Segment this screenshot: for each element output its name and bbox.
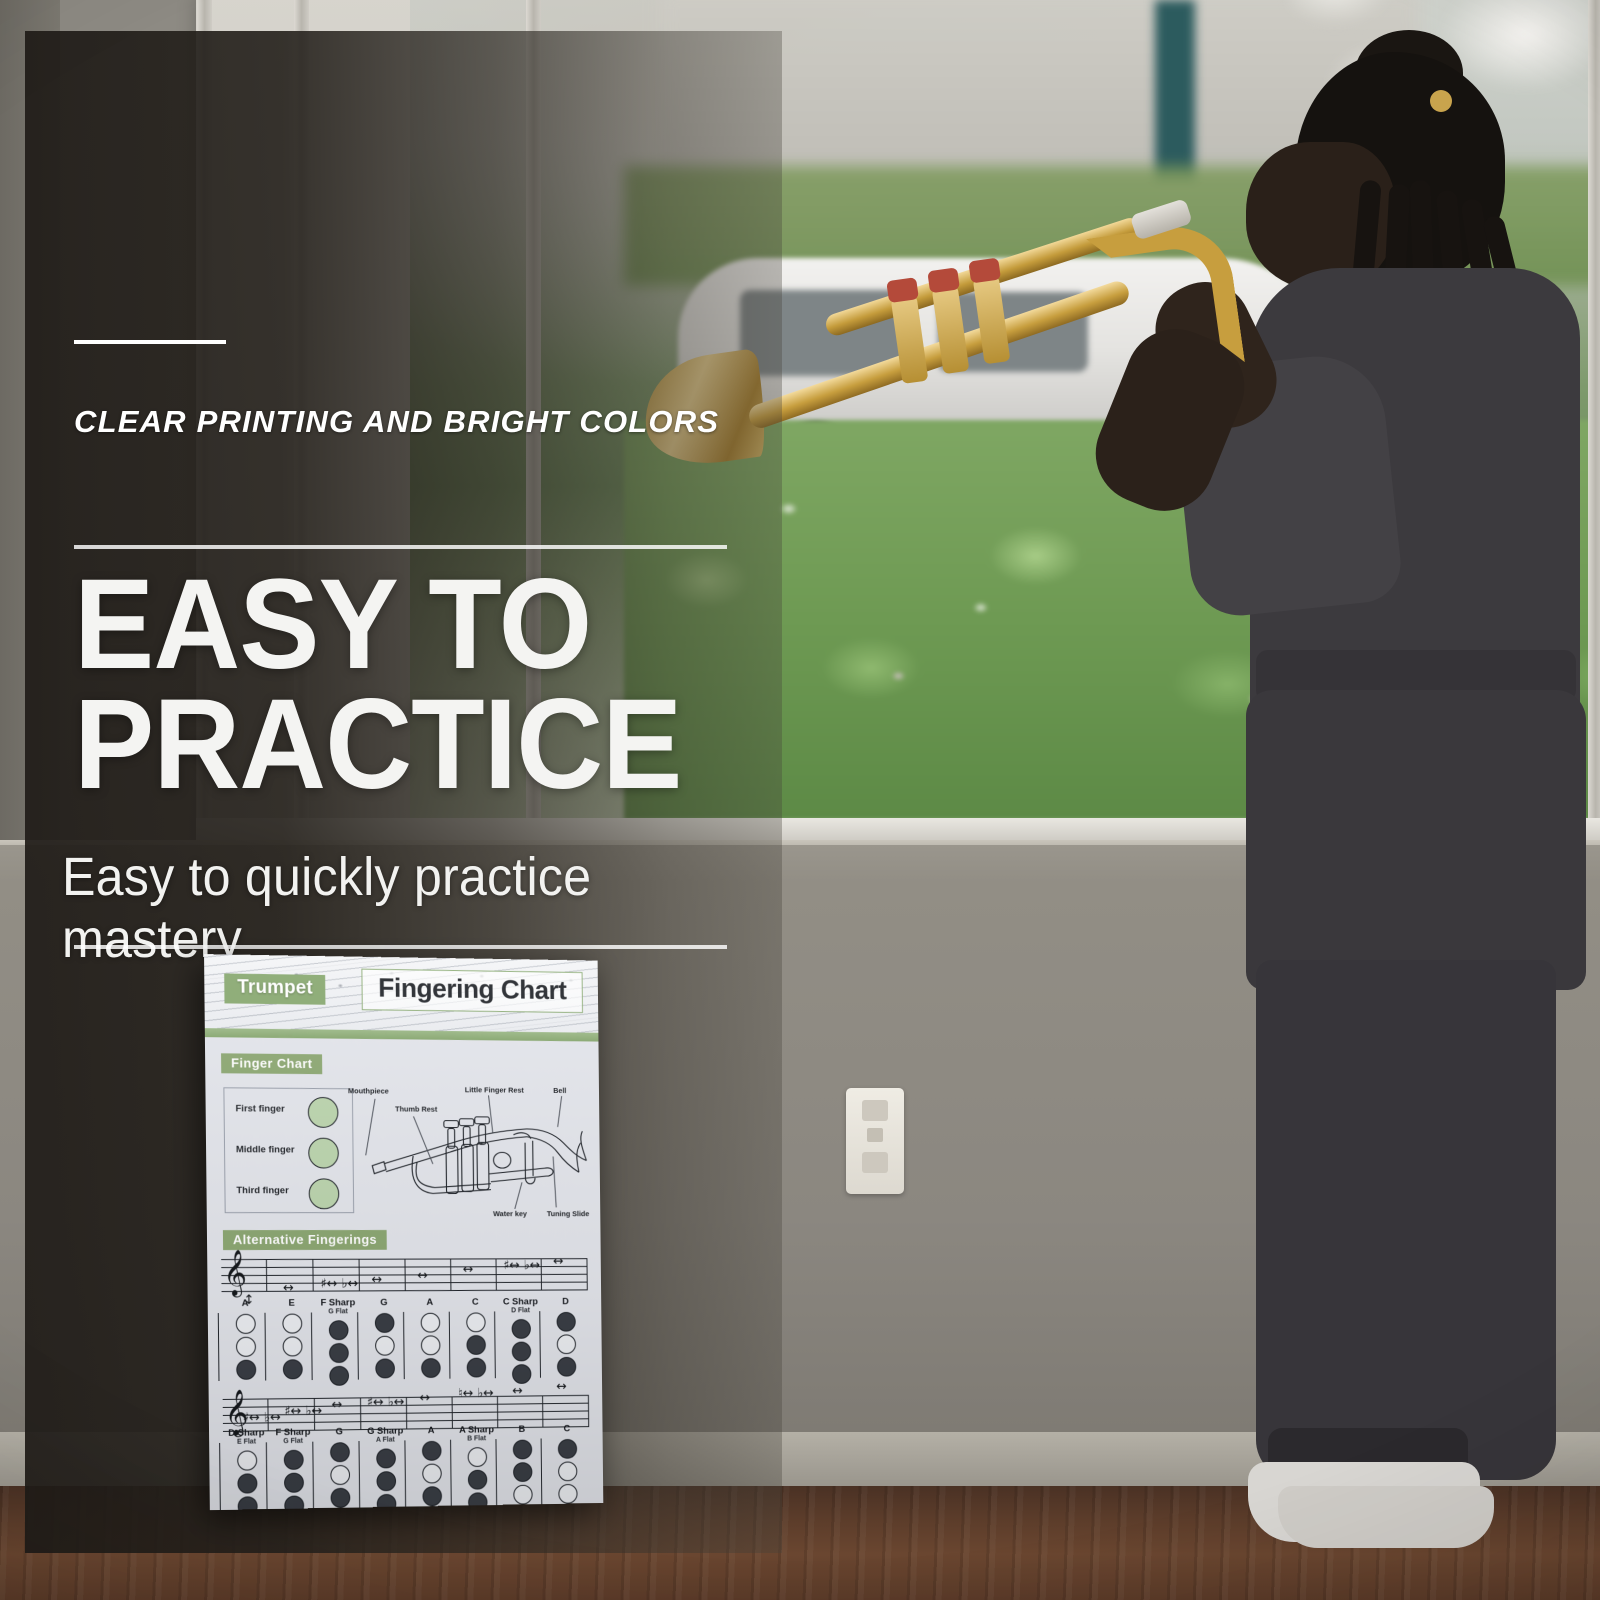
trumpet-valve-cap-2 [927, 267, 960, 293]
divider-rule-upper [74, 545, 727, 549]
valve-dots [284, 1450, 303, 1510]
valve-dot-1 [466, 1312, 486, 1332]
fingering-cell: G [361, 1298, 408, 1381]
valve-dot-2 [421, 1335, 441, 1355]
fingering-cell: A [407, 1298, 454, 1381]
valve-dot-3 [513, 1485, 532, 1505]
valve-dot-2 [284, 1473, 304, 1493]
fingering-cell: F Sharp G Flat [315, 1298, 362, 1389]
diagram-label-tuning-slide: Tuning Slide [547, 1209, 590, 1218]
note-name: B [499, 1425, 544, 1435]
legend-row: Third finger [225, 1172, 353, 1213]
section-label-finger-chart: Finger Chart [221, 1053, 322, 1074]
product-lifestyle-banner: CLEAR PRINTING AND BRIGHT COLORS EASY TO… [0, 0, 1600, 1600]
legend-row: Middle finger [225, 1131, 353, 1172]
section-alternative-fingerings: Alternative Fingerings [223, 1230, 387, 1250]
valve-dot-2 [283, 1336, 303, 1356]
bar-line [450, 1259, 451, 1291]
valve-dot-1 [468, 1447, 488, 1467]
note-name: C [452, 1298, 497, 1308]
bar-line [588, 1395, 589, 1426]
staff-lines-2: 𝄞 ♯↔ ♭↔ ♯↔ ♭↔ ↔ ♯↔ ♭↔ ↔ ♮↔ ♭↔ ↔ ↔ [223, 1381, 590, 1427]
valve-dot-1 [375, 1313, 395, 1333]
headline-line-2: PRACTICE [74, 685, 713, 805]
note-group: ↔ [553, 1254, 564, 1269]
diagram-label-water-key: Water key [493, 1209, 527, 1218]
bar-line [541, 1258, 542, 1289]
legend-label: Middle finger [236, 1144, 295, 1155]
diagram-label-bell: Bell [553, 1086, 566, 1095]
valve-dot-1 [237, 1450, 257, 1470]
note-group: ↔ [463, 1262, 474, 1277]
poster-body: Finger Chart First finger Middle finger … [205, 1037, 603, 1510]
valve-dots [376, 1448, 395, 1510]
note-group: ↔ [556, 1379, 567, 1394]
valve-dot-3 [467, 1358, 487, 1378]
note-group: ♯↔ ♭↔ [284, 1404, 322, 1419]
valve-dot-3 [236, 1360, 256, 1380]
legend-circle-icon [308, 1138, 339, 1169]
note-group: ♯↔ ♭↔ [320, 1277, 358, 1292]
diagram-label-little-finger-rest: Little Finger Rest [465, 1085, 524, 1094]
child-musician [1010, 30, 1570, 1600]
note-name: D [543, 1297, 588, 1307]
valve-dots [512, 1319, 531, 1384]
valve-dots [329, 1320, 348, 1386]
valve-dot-1 [282, 1314, 302, 1334]
valve-dot-2 [237, 1473, 257, 1493]
valve-dots [558, 1439, 577, 1504]
fingering-cell: A Sharp B Flat [454, 1425, 500, 1510]
fingering-cell: B [499, 1425, 545, 1508]
bar-line [497, 1396, 498, 1427]
page-title: EASY TO PRACTICE [74, 565, 713, 806]
valve-dot-2 [375, 1336, 395, 1356]
valve-dot-1 [512, 1319, 531, 1339]
note-group: ↔ [371, 1273, 382, 1288]
valve-dot-1 [376, 1448, 396, 1468]
trumpet-curve [1086, 220, 1245, 382]
music-staff-2: 𝄞 ♯↔ ♭↔ ♯↔ ♭↔ ↔ ♯↔ ♭↔ ↔ ♮↔ ♭↔ ↔ ↔ [223, 1381, 590, 1427]
valve-dot-1 [236, 1314, 256, 1334]
trumpet-diagram: Mouthpiece Thumb Rest Little Finger Rest… [354, 1082, 593, 1219]
valve-dots [375, 1313, 394, 1378]
note-alt-name: B Flat [454, 1435, 499, 1443]
fingering-cell: C [544, 1424, 590, 1507]
legend-circle-icon [309, 1178, 340, 1209]
valve-dot-2 [236, 1337, 256, 1357]
section-finger-chart: Finger Chart [221, 1053, 322, 1074]
staff-lines-1: 𝄞 ↕ ↔ ♯↔ ♭↔ ↔ ↔ ↔ ♯↔ ♭↔ ↔ [221, 1254, 588, 1297]
note-name: G Sharp [362, 1427, 408, 1437]
bar-line [266, 1259, 267, 1291]
instrument-badge: Trumpet [224, 973, 326, 1004]
fingering-cell: A [222, 1299, 270, 1383]
bar-line [496, 1258, 497, 1289]
music-staff-1: 𝄞 ↕ ↔ ♯↔ ♭↔ ↔ ↔ ↔ ♯↔ ♭↔ ↔ [221, 1254, 588, 1297]
sock-front [1278, 1486, 1494, 1548]
valve-dot-3 [283, 1359, 303, 1379]
valve-dot-3 [468, 1492, 488, 1510]
valve-dot-3 [422, 1486, 442, 1506]
valve-dot-3 [375, 1358, 395, 1378]
valve-dots [421, 1313, 440, 1378]
valve-dot-2 [513, 1462, 532, 1482]
fingering-chart-poster: Trumpet Fingering Chart Finger Chart Fir… [197, 950, 623, 1524]
poster-surface: Trumpet Fingering Chart Finger Chart Fir… [204, 954, 603, 1510]
valve-dot-3 [331, 1488, 351, 1508]
note-name: C [544, 1424, 589, 1434]
hair-tie [1430, 90, 1452, 112]
bar-line [359, 1259, 360, 1291]
valve-dots [237, 1450, 257, 1510]
bar-line [452, 1396, 453, 1428]
poster-title-box: Fingering Chart [361, 969, 583, 1013]
treble-clef-icon: 𝄞 [223, 1253, 247, 1293]
valve-dot-1 [422, 1441, 442, 1461]
accent-rule-top [74, 340, 226, 344]
valve-dot-1 [421, 1313, 441, 1333]
valve-dots [513, 1440, 532, 1505]
valve-dot-1 [558, 1439, 577, 1459]
valve-dot-2 [558, 1461, 577, 1481]
section-label-alternative: Alternative Fingerings [223, 1230, 387, 1250]
fingering-cell: C Sharp D Flat [498, 1297, 544, 1387]
fingering-cell: G [316, 1427, 363, 1510]
legs [1256, 960, 1556, 1480]
bar-line [586, 1258, 587, 1289]
note-name: E [268, 1299, 315, 1309]
legend-circle-icon [308, 1097, 339, 1128]
valve-dot-2 [466, 1335, 486, 1355]
valve-dot-1 [329, 1320, 349, 1340]
valve-dot-3 [421, 1358, 441, 1378]
bar-line [312, 1259, 313, 1291]
valve-dot-2 [468, 1470, 488, 1490]
valve-dot-1 [557, 1312, 576, 1332]
valve-dots [330, 1442, 349, 1508]
legend-label: First finger [235, 1103, 284, 1114]
note-name: C Sharp [498, 1297, 543, 1307]
fingering-cell: F Sharp G Flat [270, 1428, 317, 1510]
valve-dot-2 [329, 1343, 349, 1363]
poster-title: Fingering Chart [378, 973, 567, 1006]
valve-dots [557, 1312, 576, 1377]
divider-rule-lower [74, 945, 727, 949]
valve-dots [422, 1441, 441, 1506]
note-group: ↔ [419, 1391, 430, 1406]
valve-dot-2 [376, 1471, 396, 1491]
note-group: ♯↔ ♭↔ [243, 1410, 281, 1425]
outlet-reset-button [867, 1128, 883, 1142]
note-alt-name: G Flat [270, 1438, 317, 1446]
cell-separator [218, 1313, 220, 1381]
valve-dot-2 [512, 1342, 531, 1362]
valve-dot-2 [422, 1463, 442, 1483]
valve-dot-2 [557, 1334, 576, 1354]
fingering-cell: E [268, 1299, 315, 1383]
bar-line [542, 1395, 543, 1426]
fingering-cell: D [543, 1297, 589, 1379]
diagram-label-thumb-rest: Thumb Rest [395, 1104, 437, 1113]
outlet-slot-top [862, 1100, 888, 1121]
outlet-slot-bottom [862, 1152, 888, 1173]
valve-dots [282, 1314, 301, 1380]
note-name: A Sharp [454, 1425, 499, 1435]
hips [1246, 690, 1586, 990]
fingering-row-1: A E [222, 1297, 589, 1387]
trumpet-valve-cap-3 [968, 258, 1001, 284]
bar-line [406, 1397, 407, 1429]
note-name: A [407, 1298, 453, 1308]
bar-line [404, 1259, 405, 1291]
valve-dot-3 [238, 1496, 258, 1510]
note-group: ♯↔ ♭↔ [367, 1395, 405, 1410]
note-alt-name: G Flat [315, 1308, 361, 1315]
note-group: ↔ [332, 1398, 343, 1413]
note-name: G [361, 1298, 407, 1308]
valve-dot-3 [284, 1495, 304, 1510]
note-name: A [222, 1299, 269, 1309]
trumpet-valve-cap-1 [886, 277, 919, 303]
note-group: ♯↔ ♭↔ [503, 1258, 540, 1273]
note-alt-name: E Flat [223, 1438, 270, 1446]
diagram-label-mouthpiece: Mouthpiece [348, 1086, 389, 1095]
valve-dots [236, 1314, 256, 1380]
valve-dots [466, 1312, 485, 1377]
note-name: D Sharp [223, 1428, 270, 1439]
fingering-cell: A [408, 1426, 455, 1510]
bar-line [360, 1397, 361, 1429]
finger-legend-box: First finger Middle finger Third finger [223, 1087, 354, 1213]
legend-label: Third finger [236, 1185, 288, 1196]
fingering-cell: D Sharp E Flat [223, 1428, 271, 1510]
note-group: ♮↔ ♭↔ [458, 1386, 494, 1401]
valve-dot-1 [284, 1450, 304, 1470]
valve-dot-3 [558, 1484, 577, 1504]
note-name: A [408, 1426, 454, 1436]
cell-separator [219, 1443, 221, 1510]
trumpet-line-art-icon [354, 1082, 593, 1219]
note-alt-name: D Flat [498, 1307, 543, 1314]
valve-dot-3 [557, 1357, 576, 1377]
note-name: F Sharp [315, 1298, 361, 1308]
eyebrow-text: CLEAR PRINTING AND BRIGHT COLORS [74, 404, 754, 440]
fingering-cell: C [452, 1298, 498, 1381]
valve-dot-1 [513, 1440, 532, 1460]
valve-dot-3 [377, 1494, 397, 1510]
valve-dots [468, 1447, 487, 1510]
valve-dot-1 [330, 1442, 350, 1462]
wall-outlet-icon [846, 1088, 904, 1194]
valve-dot-2 [330, 1465, 350, 1485]
window-mullion-right [1588, 0, 1600, 852]
note-group: ↔ [283, 1281, 294, 1296]
note-group: ↔ [417, 1268, 428, 1283]
fingering-row-2: D Sharp E Flat F Sharp G Flat [223, 1424, 590, 1510]
note-name: F Sharp [270, 1428, 317, 1439]
fingering-cell: G Sharp A Flat [362, 1427, 409, 1511]
note-group: ↔ [512, 1384, 523, 1399]
poster-header: Trumpet Fingering Chart [204, 954, 598, 1033]
legend-row: First finger [224, 1090, 352, 1132]
note-name: G [316, 1427, 362, 1438]
note-alt-name: A Flat [362, 1436, 408, 1444]
